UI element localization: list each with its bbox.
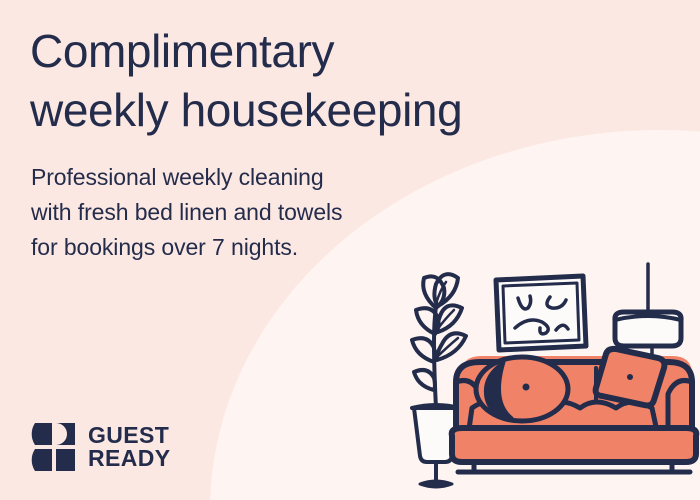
promo-banner: Complimentary weekly housekeeping Profes… [0, 0, 700, 500]
logo-wordmark: GUEST READY [88, 424, 171, 471]
framed-wall-art-icon [496, 276, 586, 350]
logo-line-2: READY [88, 447, 171, 470]
living-room-illustration [400, 250, 700, 500]
guest-ready-mark-icon [31, 423, 77, 471]
banner-subheadline: Professional weekly cleaning with fresh … [31, 160, 461, 265]
square-cushion-icon [596, 349, 665, 406]
brand-logo: GUEST READY [31, 423, 171, 471]
round-pillow-icon [476, 357, 568, 421]
page-title: Complimentary weekly housekeeping [30, 22, 630, 140]
living-room-scene [400, 250, 700, 500]
banner-content: Complimentary weekly housekeeping Profes… [0, 0, 700, 500]
logo-line-1: GUEST [88, 424, 171, 447]
